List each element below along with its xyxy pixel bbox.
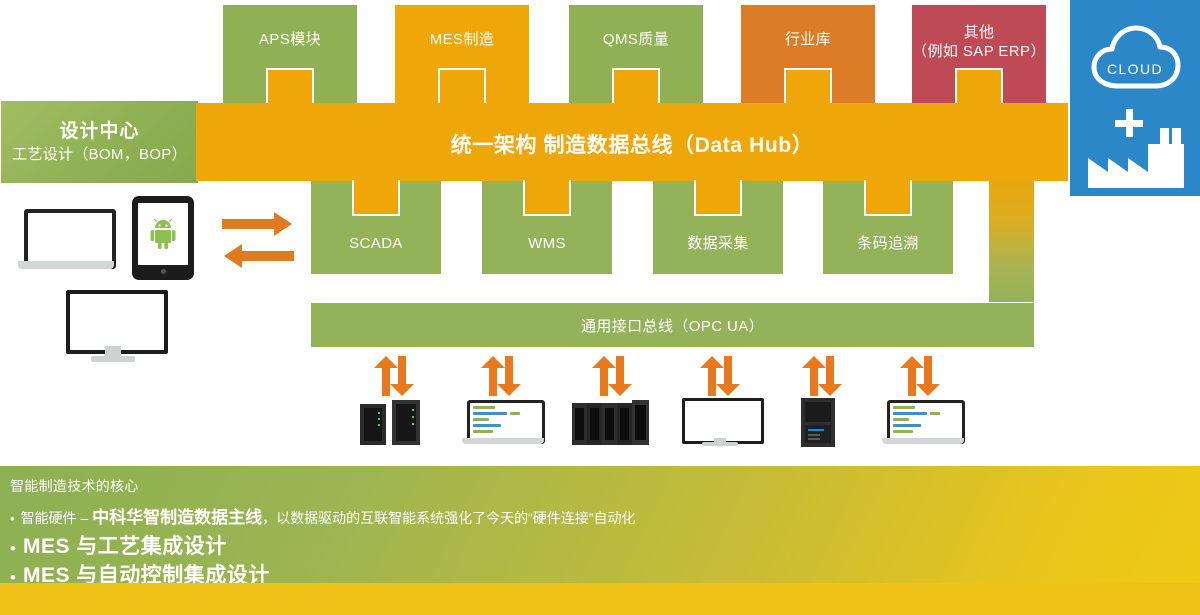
desktop-monitor-icon (682, 398, 758, 446)
top-module-label: QMS质量 (569, 30, 703, 49)
mid-module-label: WMS (482, 234, 612, 253)
bidirectional-arrows (222, 210, 294, 270)
mid-module-data-collection[interactable]: 数据采集 (652, 181, 784, 275)
cloud-icon (1088, 22, 1184, 94)
puzzle-notch (523, 180, 571, 216)
caption-bullet-2: •MES 与工艺集成设计 (10, 530, 227, 560)
top-module-label: 行业库 (741, 30, 875, 49)
top-module-mes[interactable]: MES制造 (394, 4, 530, 103)
up-down-arrow-pair (479, 356, 523, 396)
chart-line (893, 418, 909, 421)
server-rack-pair-icon (358, 398, 428, 446)
laptop-base (18, 261, 114, 269)
chart-line (473, 406, 495, 409)
chart-line (473, 412, 507, 415)
puzzle-notch (352, 180, 400, 216)
up-down-arrow-pair (372, 356, 416, 396)
top-module-industry-library[interactable]: 行业库 (740, 4, 876, 103)
laptop-base (882, 438, 964, 444)
monitor-screen (66, 290, 168, 354)
chart-line (473, 418, 489, 421)
puzzle-notch (955, 68, 1003, 104)
design-center-title: 设计中心 (1, 116, 198, 143)
top-module-label: MES制造 (395, 30, 529, 49)
top-module-qms[interactable]: QMS质量 (568, 4, 704, 103)
data-hub-bus[interactable]: 统一架构 制造数据总线（Data Hub） (196, 103, 1068, 181)
up-down-arrow-pair (698, 356, 742, 396)
top-module-other-sap-erp[interactable]: 其他 （例如 SAP ERP） (911, 4, 1047, 103)
up-down-arrow-pair (800, 356, 844, 396)
mid-module-label: SCADA (311, 234, 441, 253)
chart-line (930, 412, 940, 415)
up-down-arrow-pair (898, 356, 942, 396)
top-module-label: 其他 （例如 SAP ERP） (912, 23, 1046, 61)
caption-panel: 智能制造技术的核心 •智能硬件 – 中科华智制造数据主线，以数据驱动的互联智能系… (0, 466, 1200, 583)
chart-line (473, 424, 501, 427)
up-down-arrow-pair (590, 356, 634, 396)
caption-bullet-1: •智能硬件 – 中科华智制造数据主线，以数据驱动的互联智能系统强化了今天的“硬件… (10, 503, 635, 528)
caption-heading: 智能制造技术的核心 (10, 476, 139, 496)
android-robot-icon (150, 219, 176, 249)
desktop-monitor-icon (66, 290, 160, 362)
mid-module-label: 数据采集 (653, 234, 783, 253)
chart-line (893, 430, 913, 433)
interface-bus[interactable]: 通用接口总线（OPC UA） (310, 302, 1035, 348)
chart-line (893, 424, 921, 427)
puzzle-notch (864, 180, 912, 216)
design-center-subtitle: 工艺设计（BOM，BOP） (1, 143, 198, 164)
monitor-foot (91, 356, 135, 362)
mid-module-label: 条码追溯 (823, 234, 953, 253)
chart-line (510, 412, 520, 415)
monitor-neck (105, 346, 121, 356)
caption-line2: MES 与工艺集成设计 (23, 535, 227, 558)
laptop-icon (18, 209, 114, 271)
laptop-dashboard-icon (882, 400, 964, 445)
chart-line (473, 430, 493, 433)
mid-module-wms[interactable]: WMS (481, 181, 613, 275)
puzzle-notch (438, 68, 486, 104)
chart-line (893, 412, 927, 415)
factory-icon (1086, 128, 1186, 188)
caption-line1-part1: 智能硬件 – (21, 510, 93, 526)
design-center-block[interactable]: 设计中心 工艺设计（BOM，BOP） (0, 100, 199, 184)
mid-module-barcode-tracing[interactable]: 条码追溯 (822, 181, 954, 275)
tablet-home-button (161, 269, 166, 274)
cloud-label: CLOUD (1070, 61, 1200, 77)
bullet-icon: • (10, 539, 16, 559)
data-hub-title: 统一架构 制造数据总线（Data Hub） (196, 129, 1068, 159)
puzzle-notch (266, 68, 314, 104)
tablet-android-icon (132, 196, 194, 280)
mid-module-scada[interactable]: SCADA (310, 181, 442, 275)
laptop-dashboard-icon (462, 400, 544, 445)
laptop-base (462, 438, 544, 444)
interface-bus-label: 通用接口总线（OPC UA） (311, 315, 1034, 336)
caption-line1-part2: ，以数据驱动的互联智能系统强化了今天的“硬件连接”自动化 (262, 510, 635, 526)
top-module-label: APS模块 (223, 30, 357, 49)
puzzle-notch (784, 68, 832, 104)
puzzle-notch (612, 68, 660, 104)
bullet-icon: • (10, 511, 15, 526)
bottom-accent-strip (0, 583, 1200, 615)
vertical-connector-bar (988, 181, 1035, 303)
laptop-screen (24, 209, 116, 269)
monitor-foot (702, 442, 738, 446)
server-rack-row-icon (572, 400, 650, 446)
diagram-canvas: APS模块 MES制造 QMS质量 行业库 其他 （例如 SAP ERP） 设计… (0, 0, 1200, 615)
chart-line (893, 406, 915, 409)
caption-line1-highlight: 中科华智制造数据主线 (92, 508, 262, 527)
tower-pc-icon (795, 398, 843, 448)
cloud-panel[interactable]: CLOUD (1070, 0, 1200, 196)
top-module-aps[interactable]: APS模块 (222, 4, 358, 103)
puzzle-notch (694, 180, 742, 216)
